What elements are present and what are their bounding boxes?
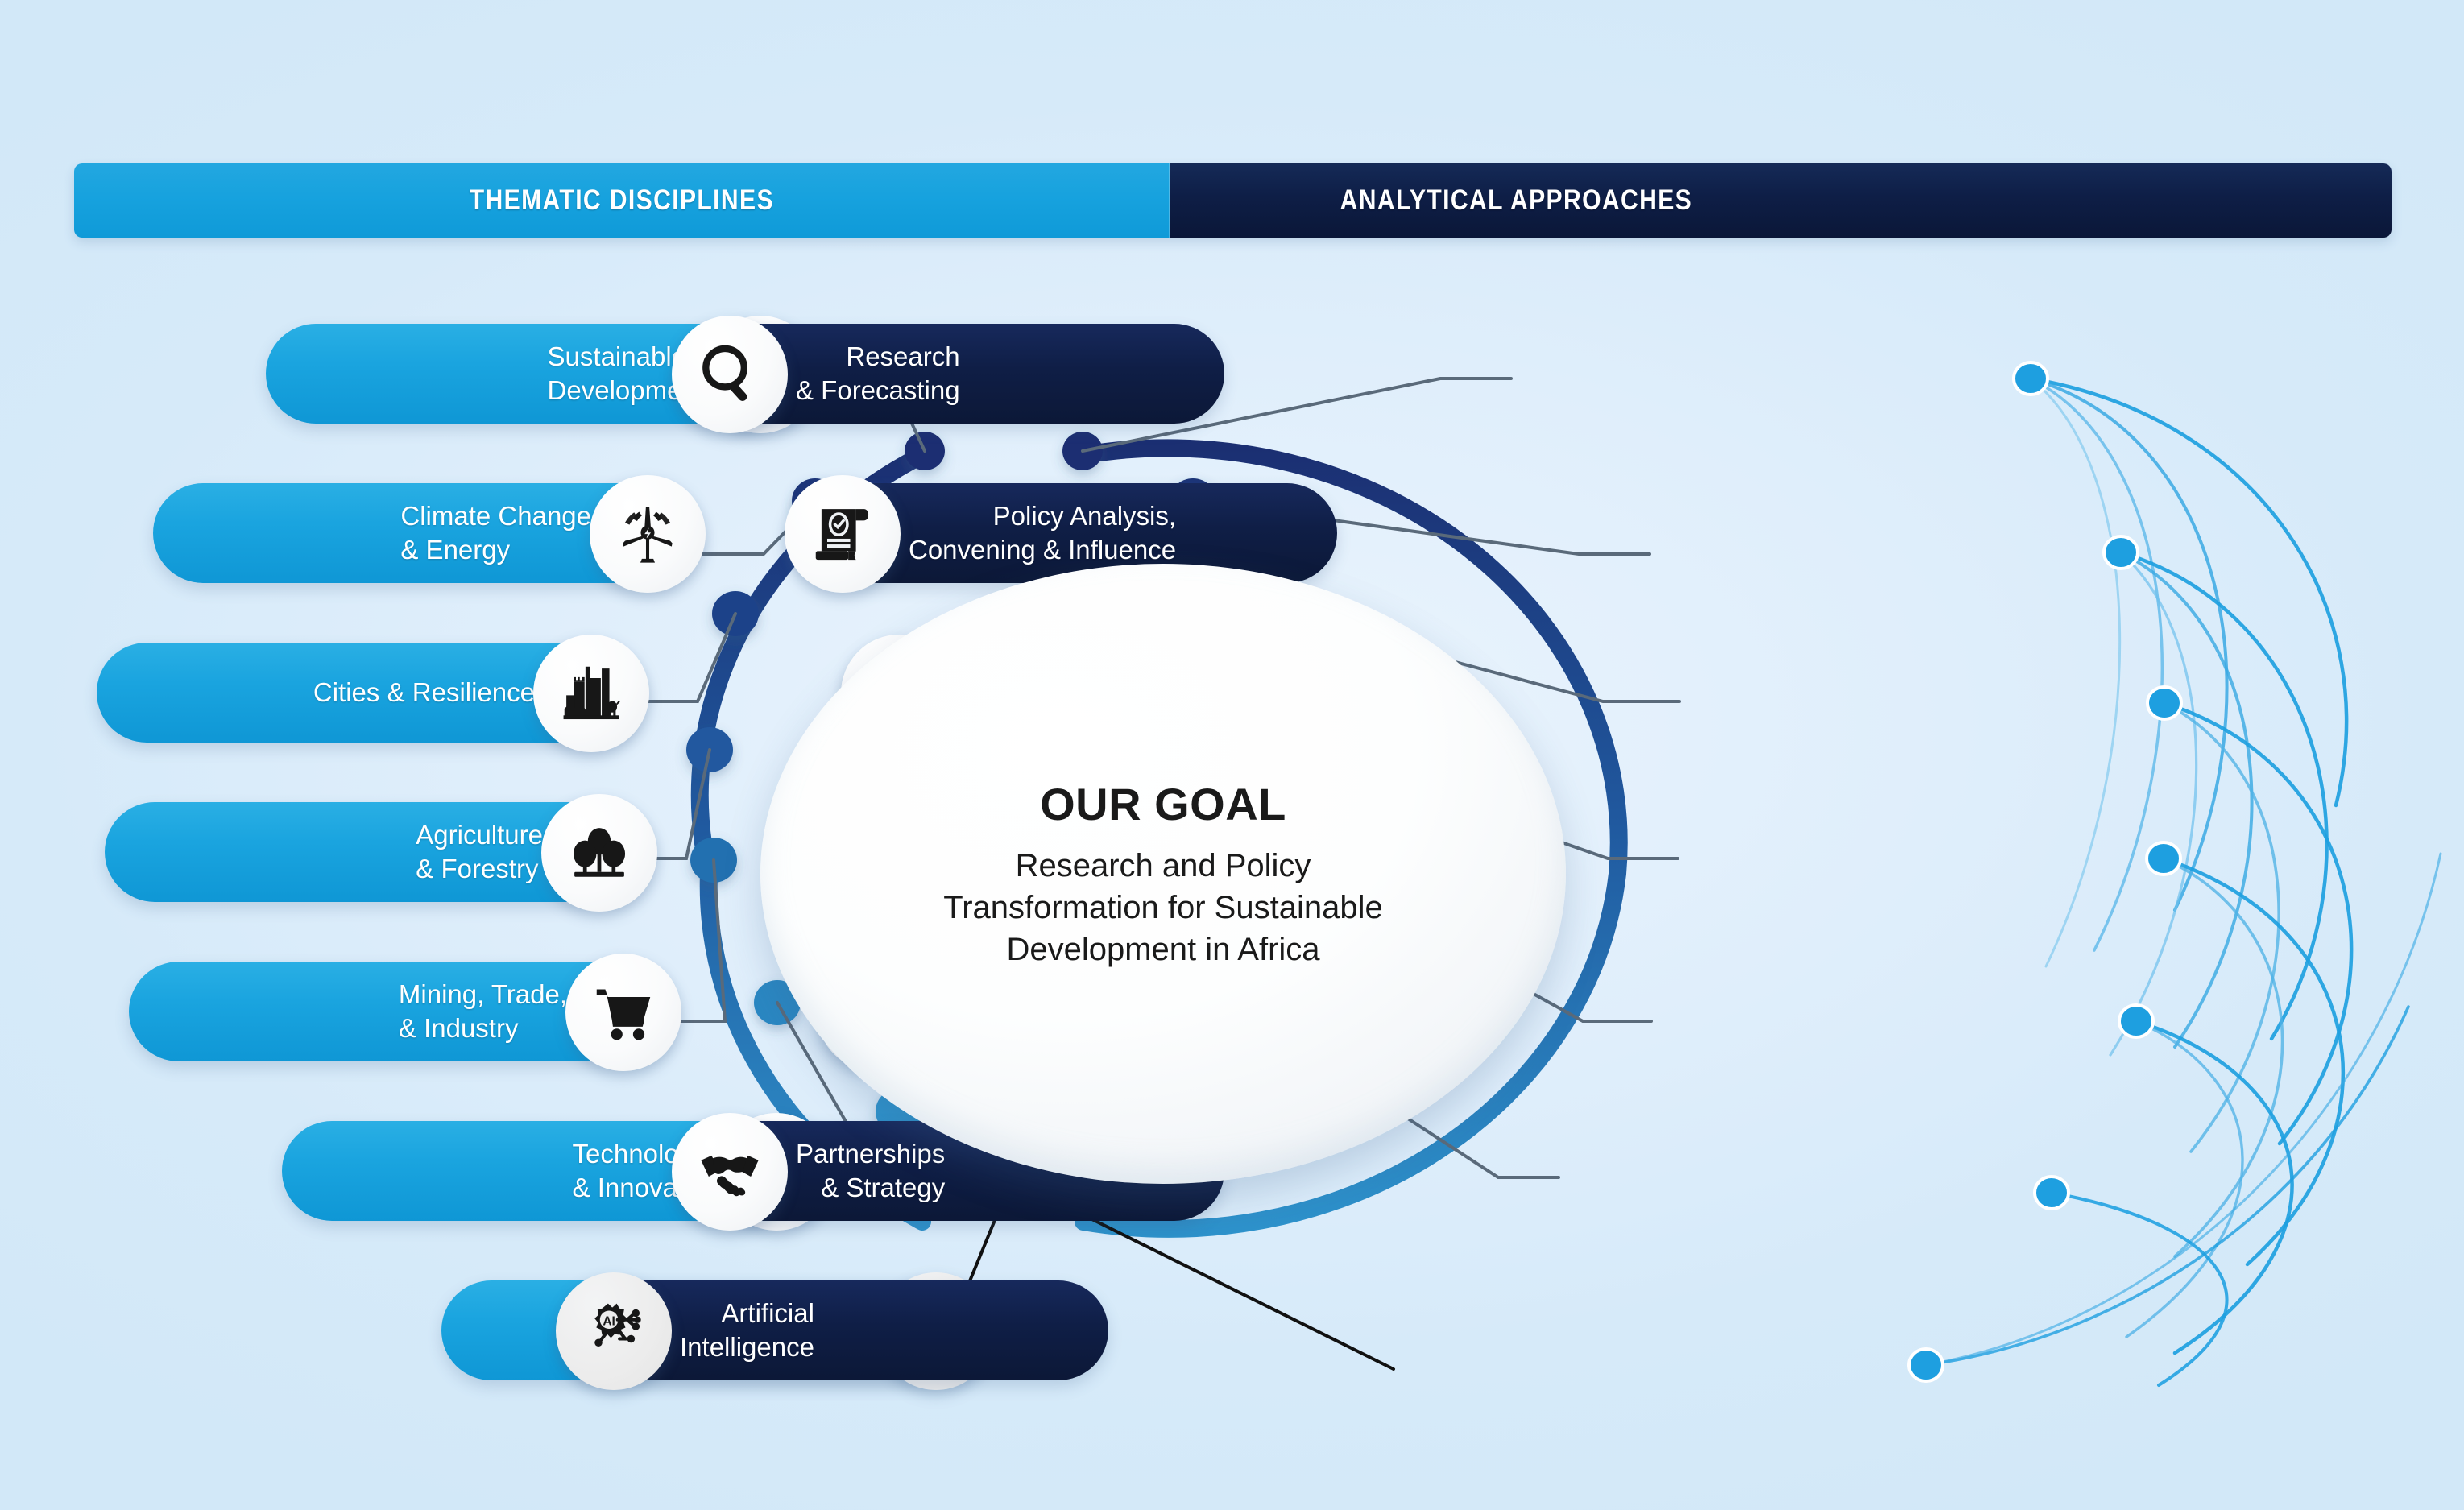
header-band: THEMATIC DISCIPLINES ANALYTICAL APPROACH… bbox=[74, 163, 2392, 238]
analytical-item-policy-analysis[interactable]: Policy Analysis, Convening & Influence bbox=[789, 483, 1337, 583]
thematic-item-cities-resilience[interactable]: Cities & Resilience bbox=[97, 643, 644, 743]
right-curve-network bbox=[1926, 379, 2441, 1385]
page-title: OUR GOAL bbox=[1040, 778, 1286, 830]
pill-label: Agriculture & Forestry bbox=[416, 818, 543, 886]
ring-node bbox=[686, 727, 733, 772]
shopping-cart-icon bbox=[565, 954, 681, 1071]
magnifier-icon bbox=[672, 316, 788, 433]
endpoint-dot bbox=[1909, 1349, 1943, 1381]
thematic-disciplines-band: THEMATIC DISCIPLINES bbox=[74, 163, 1170, 238]
thematic-disciplines-band-label: THEMATIC DISCIPLINES bbox=[470, 184, 774, 217]
pill-label: Mining, Trade, & Industry bbox=[399, 978, 567, 1045]
trees-icon bbox=[541, 794, 657, 912]
pill-label: Research & Forecasting bbox=[796, 340, 960, 407]
endpoint-dot bbox=[2035, 1177, 2069, 1209]
thematic-item-climate-change-energy[interactable]: Climate Change & Energy bbox=[153, 483, 701, 583]
thematic-item-mining-trade-industry[interactable]: Mining, Trade, & Industry bbox=[129, 962, 677, 1061]
ring-node bbox=[1062, 432, 1103, 470]
goal-line-3: Development in Africa bbox=[1006, 929, 1319, 970]
analytical-approaches-band-label: ANALYTICAL APPROACHES bbox=[1340, 184, 1693, 217]
endpoint-dot bbox=[2119, 1005, 2153, 1037]
goal-line-2: Transformation for Sustainable bbox=[943, 887, 1382, 929]
handshake-icon bbox=[672, 1113, 788, 1231]
center-goal-disc: OUR GOAL Research and Policy Transformat… bbox=[760, 564, 1566, 1184]
ring-node bbox=[905, 432, 945, 470]
analytical-item-artificial-intelligence[interactable]: Artificial Intelligence AI bbox=[561, 1280, 1108, 1380]
ring-node bbox=[712, 591, 759, 636]
goal-line-1: Research and Policy bbox=[1016, 845, 1311, 887]
svg-text:AI: AI bbox=[603, 1314, 615, 1328]
infographic-canvas: THEMATIC DISCIPLINES ANALYTICAL APPROACH… bbox=[0, 0, 2464, 1510]
endpoint-dot bbox=[2147, 687, 2181, 719]
ring-node bbox=[690, 838, 737, 883]
endpoint-dot bbox=[2147, 842, 2180, 875]
pill-label: Partnerships & Strategy bbox=[796, 1137, 945, 1205]
pill-label: Cities & Resilience bbox=[313, 676, 535, 709]
wind-turbine-icon bbox=[590, 475, 706, 593]
analytical-item-research-forecasting[interactable]: Research & Forecasting bbox=[677, 324, 1224, 424]
pill-label: Climate Change & Energy bbox=[400, 499, 591, 567]
pill-label: Artificial Intelligence bbox=[680, 1297, 814, 1364]
city-skyline-icon bbox=[533, 635, 649, 752]
pill-label: Policy Analysis, Convening & Influence bbox=[909, 499, 1176, 567]
policy-scroll-icon bbox=[785, 475, 901, 593]
endpoint-dot bbox=[2104, 536, 2138, 569]
ai-chip-icon: AI bbox=[556, 1272, 672, 1390]
analytical-approaches-band: ANALYTICAL APPROACHES bbox=[1170, 163, 2392, 238]
thematic-item-agriculture-forestry[interactable]: Agriculture & Forestry bbox=[105, 802, 652, 902]
endpoint-dot bbox=[2014, 362, 2048, 395]
right-endpoint-dots bbox=[1909, 362, 2181, 1381]
